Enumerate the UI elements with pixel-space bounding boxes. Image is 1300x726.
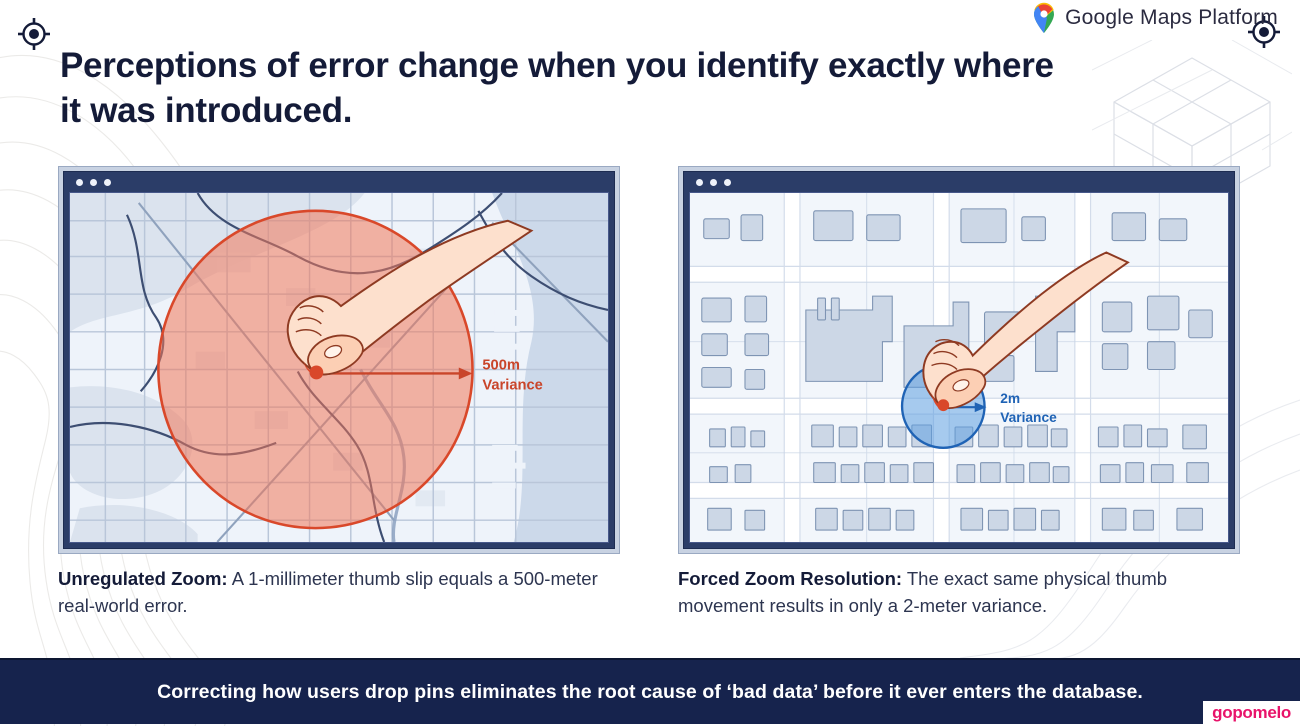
google-maps-pin-icon [1031, 2, 1057, 34]
svg-text:Variance: Variance [1000, 409, 1057, 425]
crosshair-target-icon [16, 16, 52, 52]
banner-text: Correcting how users drop pins eliminate… [157, 681, 1143, 704]
caption-forced-zoom-resolution: Forced Zoom Resolution: The exact same p… [678, 566, 1240, 620]
window-dot-icon[interactable] [104, 179, 111, 186]
watermark-text: gopomelo [1212, 703, 1291, 722]
svg-text:2m: 2m [1000, 390, 1020, 406]
panel-forced-zoom-resolution: 2m Variance [678, 166, 1240, 554]
bottom-banner: Correcting how users drop pins eliminate… [0, 658, 1300, 724]
window-dot-icon[interactable] [724, 179, 731, 186]
page-title: Perceptions of error change when you ide… [60, 44, 1080, 134]
window-dot-icon[interactable] [76, 179, 83, 186]
map-viewport-zoomed[interactable]: 2m Variance [689, 192, 1229, 543]
window-titlebar [684, 172, 1234, 192]
map-viewport-wide[interactable]: 500m Variance [69, 192, 609, 543]
browser-frame-inner: 2m Variance [683, 171, 1235, 549]
brand-name: Google Maps Platform [1065, 6, 1278, 30]
window-titlebar [64, 172, 614, 192]
panel-captions: Unregulated Zoom: A 1-millimeter thumb s… [58, 566, 1240, 620]
browser-frame-outer: 2m Variance [678, 166, 1240, 554]
svg-text:500m: 500m [482, 357, 520, 373]
comparison-panels: 500m Variance [58, 166, 1240, 554]
window-dot-icon[interactable] [710, 179, 717, 186]
panel-unregulated-zoom: 500m Variance [58, 166, 620, 554]
caption-lead: Unregulated Zoom: [58, 568, 228, 589]
browser-frame-inner: 500m Variance [63, 171, 615, 549]
caption-unregulated-zoom: Unregulated Zoom: A 1-millimeter thumb s… [58, 566, 620, 620]
watermark: gopomelo [1203, 701, 1300, 726]
caption-lead: Forced Zoom Resolution: [678, 568, 902, 589]
window-dot-icon[interactable] [696, 179, 703, 186]
brand-lockup: Google Maps Platform [1031, 2, 1278, 34]
svg-text:Variance: Variance [482, 377, 543, 393]
window-dot-icon[interactable] [90, 179, 97, 186]
browser-frame-outer: 500m Variance [58, 166, 620, 554]
